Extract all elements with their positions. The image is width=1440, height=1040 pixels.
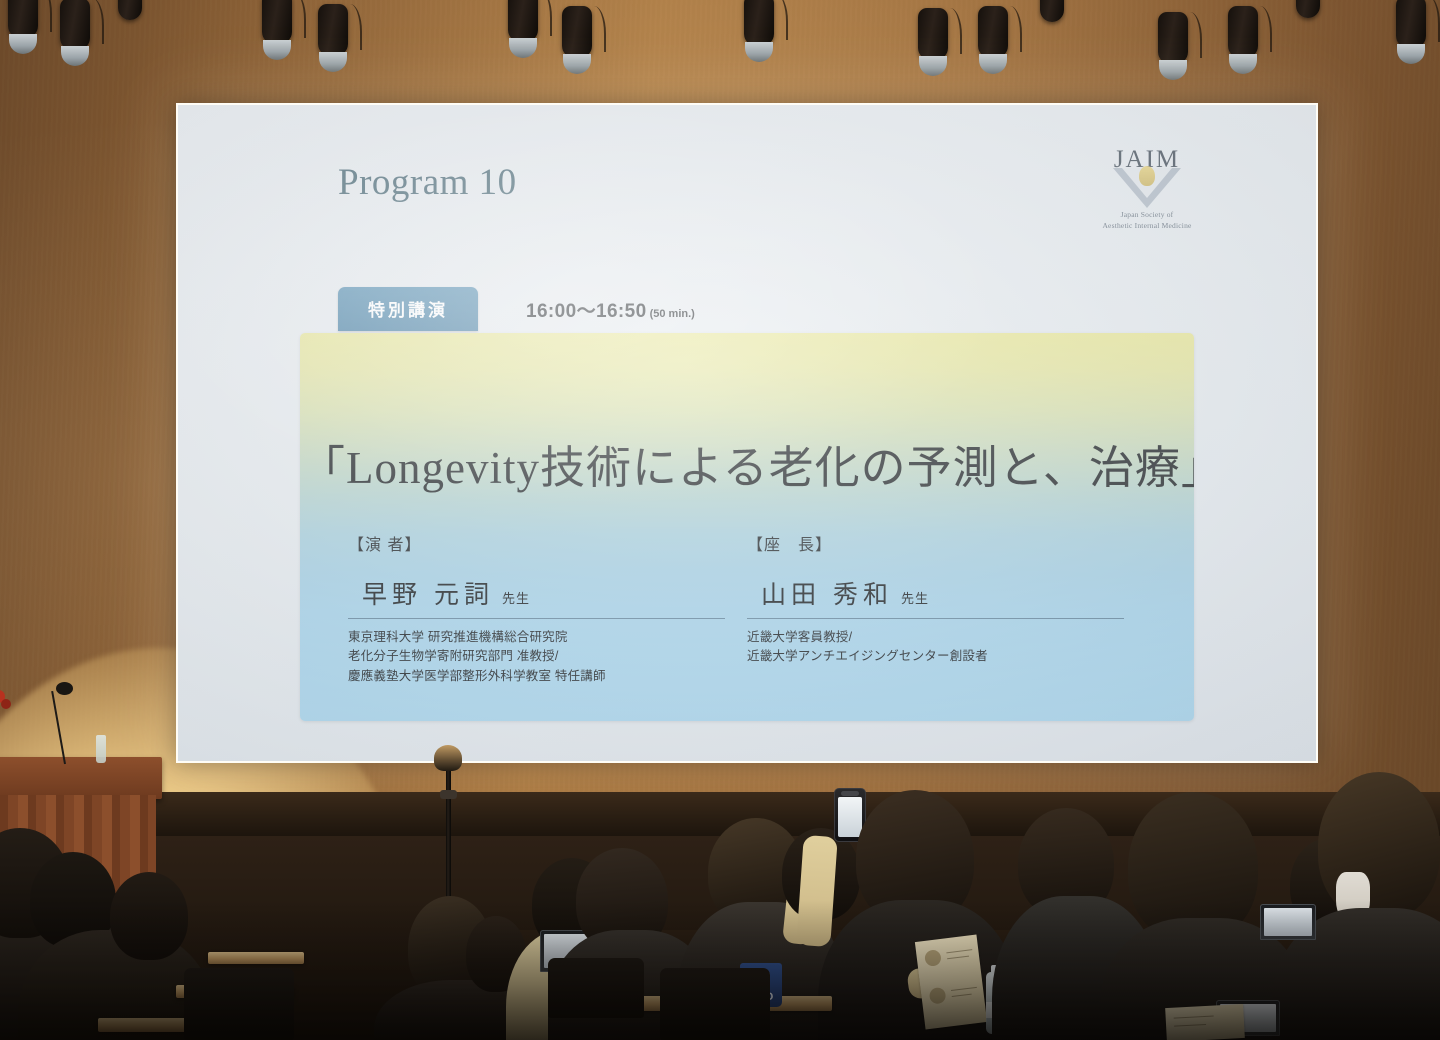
projection-screen: Program 10 JAIM Japan Society of Aesthet… xyxy=(178,105,1316,761)
chair-affiliation-2: 近畿大学アンチエイジングセンター創設者 xyxy=(747,647,1124,666)
audience-desk xyxy=(208,952,304,964)
conference-hall-photo: Program 10 JAIM Japan Society of Aesthet… xyxy=(0,0,1440,1040)
chair-column: 【座 長】 山田 秀和 先生 近畿大学客員教授/ 近畿大学アンチエイジングセンタ… xyxy=(747,531,1146,686)
microphone-stand-clip xyxy=(440,790,457,799)
program-leaflet xyxy=(915,935,987,1030)
podium-water-bottle xyxy=(96,735,106,763)
speaker-column: 【演 者】 早野 元詞 先生 東京理科大学 研究推進機構総合研究院 老化分子生物… xyxy=(348,531,747,686)
lecture-title: 「Longevity技術による老化の予測と、治療」 xyxy=(300,431,1194,496)
session-meta-row: 特別講演 16:00〜16:50(50 min.) xyxy=(338,287,695,331)
chair-role-label: 【座 長】 xyxy=(747,531,1124,555)
speaker-divider xyxy=(348,618,725,619)
program-leaflet xyxy=(1165,1004,1245,1040)
audience-chair xyxy=(184,968,294,1040)
speaker-name: 早野 元詞 xyxy=(362,575,494,611)
session-time-range: 16:00〜16:50 xyxy=(526,301,647,322)
jaim-logo: JAIM Japan Society of Aesthetic Internal… xyxy=(1082,147,1212,232)
jaim-emblem-icon xyxy=(1113,164,1181,208)
lecture-panel: 「Longevity技術による老化の予測と、治療」 【演 者】 早野 元詞 先生… xyxy=(300,333,1194,721)
audience-chair xyxy=(660,968,770,1040)
status-badge: 特別講演 xyxy=(338,287,478,331)
session-duration: (50 min.) xyxy=(650,308,695,320)
people-row: 【演 者】 早野 元詞 先生 東京理科大学 研究推進機構総合研究院 老化分子生物… xyxy=(348,531,1146,686)
chair-name-row: 山田 秀和 先生 xyxy=(747,575,1124,611)
audience-laptop xyxy=(1260,904,1316,940)
floor-microphone-icon xyxy=(434,745,462,771)
jaim-subtitle-line2: Aesthetic Internal Medicine xyxy=(1082,221,1212,232)
jaim-subtitle-line1: Japan Society of xyxy=(1082,210,1212,221)
speaker-role-label: 【演 者】 xyxy=(348,531,725,555)
chair-name: 山田 秀和 xyxy=(761,575,893,611)
chair-honorific: 先生 xyxy=(901,588,929,607)
speaker-affiliation-2: 老化分子生物学寄附研究部門 准教授/ xyxy=(348,647,725,666)
stage-lighting-rig xyxy=(0,0,1440,80)
speaker-affiliation-3: 慶應義塾大学医学部整形外科学教室 特任講師 xyxy=(348,667,725,686)
session-time: 16:00〜16:50(50 min.) xyxy=(526,296,695,323)
audience-chair xyxy=(548,958,644,1018)
slide: Program 10 JAIM Japan Society of Aesthet… xyxy=(178,105,1316,761)
chair-divider xyxy=(747,618,1124,619)
speaker-name-row: 早野 元詞 先生 xyxy=(348,575,725,611)
chair-affiliation-1: 近畿大学客員教授/ xyxy=(747,628,1124,647)
page-title: Program 10 xyxy=(338,161,517,204)
speaker-affiliation-1: 東京理科大学 研究推進機構総合研究院 xyxy=(348,628,725,647)
podium-top xyxy=(0,757,162,799)
audience-member xyxy=(110,872,188,960)
phone-camera-icon xyxy=(841,791,859,796)
speaker-honorific: 先生 xyxy=(502,588,530,607)
phone-screen xyxy=(838,797,862,837)
podium-microphone-icon xyxy=(56,682,73,695)
podium-flower-decoration xyxy=(0,690,18,744)
